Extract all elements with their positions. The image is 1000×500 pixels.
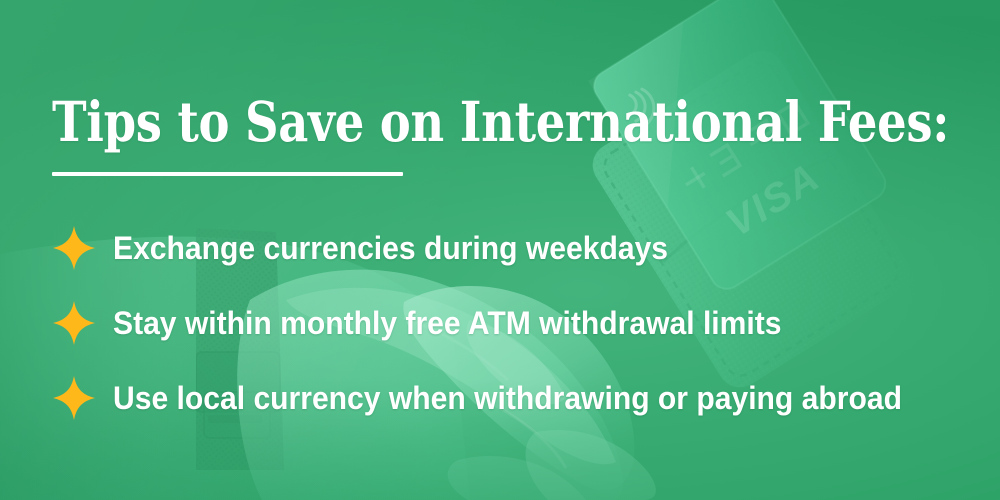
four-point-star-icon [52,300,96,346]
four-point-star-icon [52,225,96,271]
title-divider [52,172,403,176]
list-item-label: Use local currency when withdrawing or p… [113,381,902,415]
list-item-label: Exchange currencies during weekdays [113,231,668,265]
four-point-star-icon [52,375,96,421]
international-fees-tips-banner: VISA Tips to Save on International Fees:… [0,0,1000,500]
banner-content: Tips to Save on International Fees: Exch… [0,0,1000,500]
list-item-label: Stay within monthly free ATM withdrawal … [113,306,782,340]
list-item: Use local currency when withdrawing or p… [52,371,952,425]
list-item: Stay within monthly free ATM withdrawal … [52,296,824,350]
list-item: Exchange currencies during weekdays [52,221,703,275]
page-title: Tips to Save on International Fees: [52,94,949,150]
